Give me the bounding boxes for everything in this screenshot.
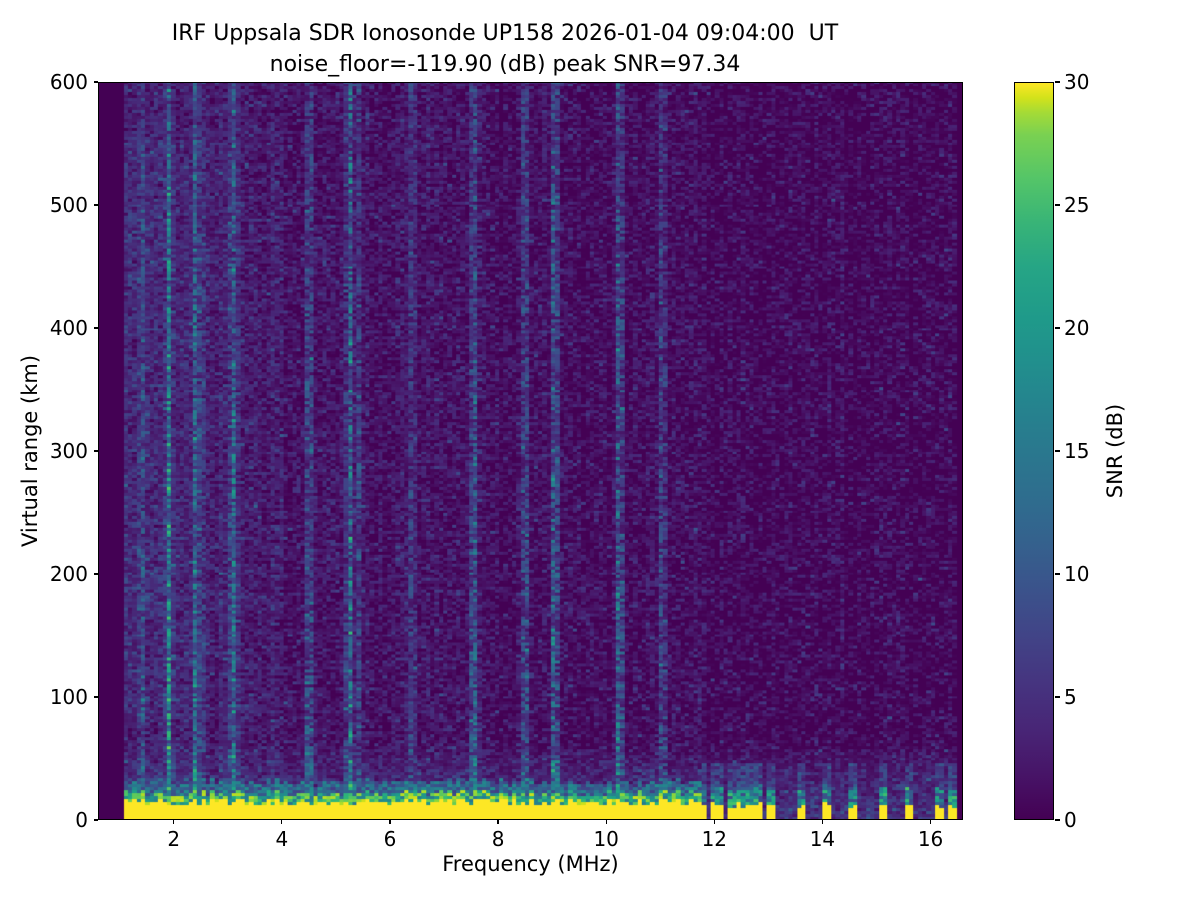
- y-tick-label: 400: [50, 316, 88, 340]
- y-tick-label: 0: [75, 808, 88, 832]
- title-line-1: IRF Uppsala SDR Ionosonde UP158 2026-01-…: [0, 18, 1010, 49]
- colorbar-tick-label: 10: [1064, 562, 1089, 586]
- y-axis-label: Virtual range (km): [18, 355, 42, 547]
- x-tick-label: 4: [275, 827, 288, 851]
- x-tick-label: 12: [702, 827, 727, 851]
- x-tick-label: 8: [492, 827, 505, 851]
- x-tick-label: 14: [810, 827, 835, 851]
- y-tick-mark: [94, 819, 98, 820]
- colorbar-tick-mark: [1055, 696, 1060, 697]
- y-tick-label: 600: [50, 70, 88, 94]
- x-tick-label: 6: [384, 827, 397, 851]
- x-tick-mark: [714, 820, 715, 824]
- y-tick-label: 100: [50, 685, 88, 709]
- x-tick-mark: [389, 820, 390, 824]
- colorbar-gradient: [1014, 82, 1054, 820]
- colorbar-tick-mark: [1055, 450, 1060, 451]
- colorbar-label: SNR (dB): [1103, 404, 1127, 498]
- colorbar-tick-label: 30: [1064, 70, 1089, 94]
- y-tick-mark: [94, 327, 98, 328]
- x-tick-mark: [173, 820, 174, 824]
- colorbar-tick-mark: [1055, 573, 1060, 574]
- x-tick-mark: [606, 820, 607, 824]
- x-tick-label: 10: [593, 827, 618, 851]
- x-axis-label: Frequency (MHz): [98, 852, 963, 876]
- ionogram-axes: [98, 82, 963, 820]
- x-tick-label: 2: [167, 827, 180, 851]
- colorbar-tick-label: 25: [1064, 193, 1089, 217]
- ionogram-heatmap: [99, 83, 962, 819]
- y-tick-label: 500: [50, 193, 88, 217]
- colorbar-tick-label: 20: [1064, 316, 1089, 340]
- colorbar-tick-mark: [1055, 204, 1060, 205]
- colorbar-tick-label: 0: [1064, 808, 1077, 832]
- x-tick-mark: [281, 820, 282, 824]
- y-tick-label: 300: [50, 439, 88, 463]
- y-tick-mark: [94, 81, 98, 82]
- title-line-2: noise_floor=-119.90 (dB) peak SNR=97.34: [0, 49, 1010, 80]
- y-tick-mark: [94, 573, 98, 574]
- colorbar-tick-mark: [1055, 819, 1060, 820]
- colorbar-tick-label: 5: [1064, 685, 1077, 709]
- x-tick-label: 16: [918, 827, 943, 851]
- y-tick-label: 200: [50, 562, 88, 586]
- x-tick-mark: [930, 820, 931, 824]
- y-tick-mark: [94, 204, 98, 205]
- x-tick-mark: [497, 820, 498, 824]
- figure-title: IRF Uppsala SDR Ionosonde UP158 2026-01-…: [0, 18, 1010, 80]
- colorbar-tick-mark: [1055, 327, 1060, 328]
- y-tick-mark: [94, 450, 98, 451]
- colorbar-tick-label: 15: [1064, 439, 1089, 463]
- x-tick-mark: [822, 820, 823, 824]
- colorbar-tick-mark: [1055, 81, 1060, 82]
- ionogram-figure: IRF Uppsala SDR Ionosonde UP158 2026-01-…: [0, 0, 1200, 900]
- y-tick-mark: [94, 696, 98, 697]
